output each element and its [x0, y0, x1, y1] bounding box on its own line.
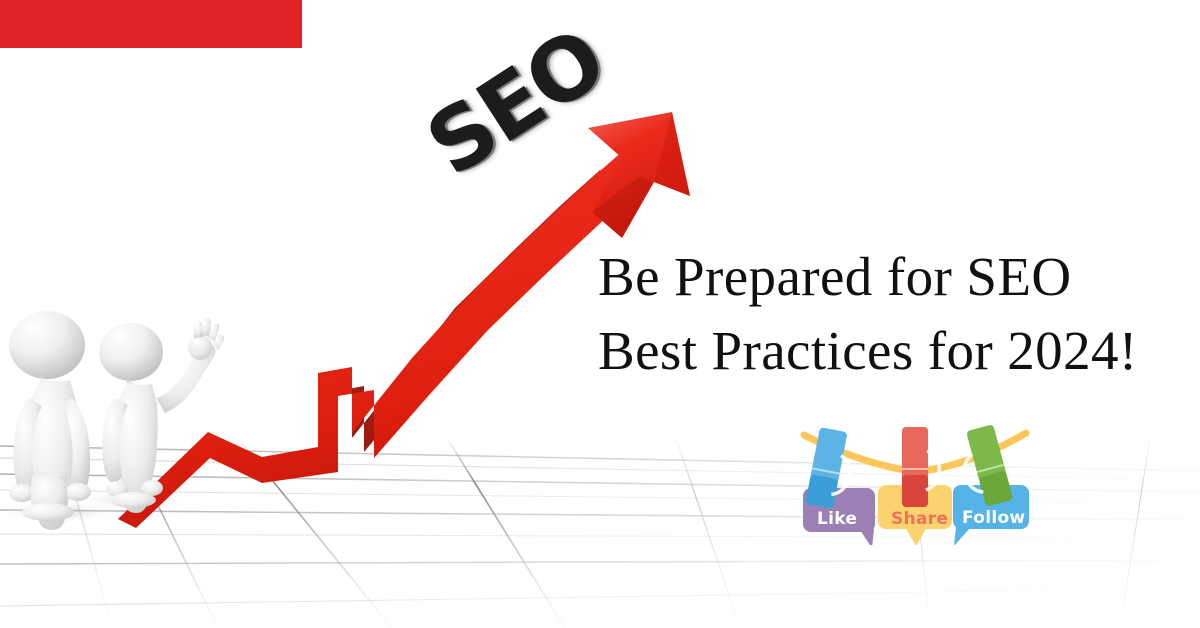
arrow-ribbon: [118, 136, 668, 528]
badge-label-follow[interactable]: Follow: [962, 508, 1025, 528]
headline-line-2: Best Practices for 2024!: [598, 314, 1168, 388]
headline-line-1: Be Prepared for SEO: [598, 240, 1168, 314]
brand-accent-bar: [0, 0, 302, 48]
badge-label-like[interactable]: Like: [817, 509, 857, 529]
mannequin-figure-left: [9, 311, 91, 530]
arrow-shadow-side: [118, 170, 618, 525]
seo-word-label: SEO: [410, 10, 622, 196]
seo-banner-graphic: SEO Be Prepared for SEO Best Practices f…: [0, 0, 1200, 628]
mannequin-figure-waving: [99, 318, 224, 513]
social-badges-group: Like Share Follow: [790, 415, 1040, 545]
arrow-head: [588, 112, 690, 238]
page-title: Be Prepared for SEO Best Practices for 2…: [598, 240, 1168, 388]
badge-label-share[interactable]: Share: [891, 509, 948, 529]
